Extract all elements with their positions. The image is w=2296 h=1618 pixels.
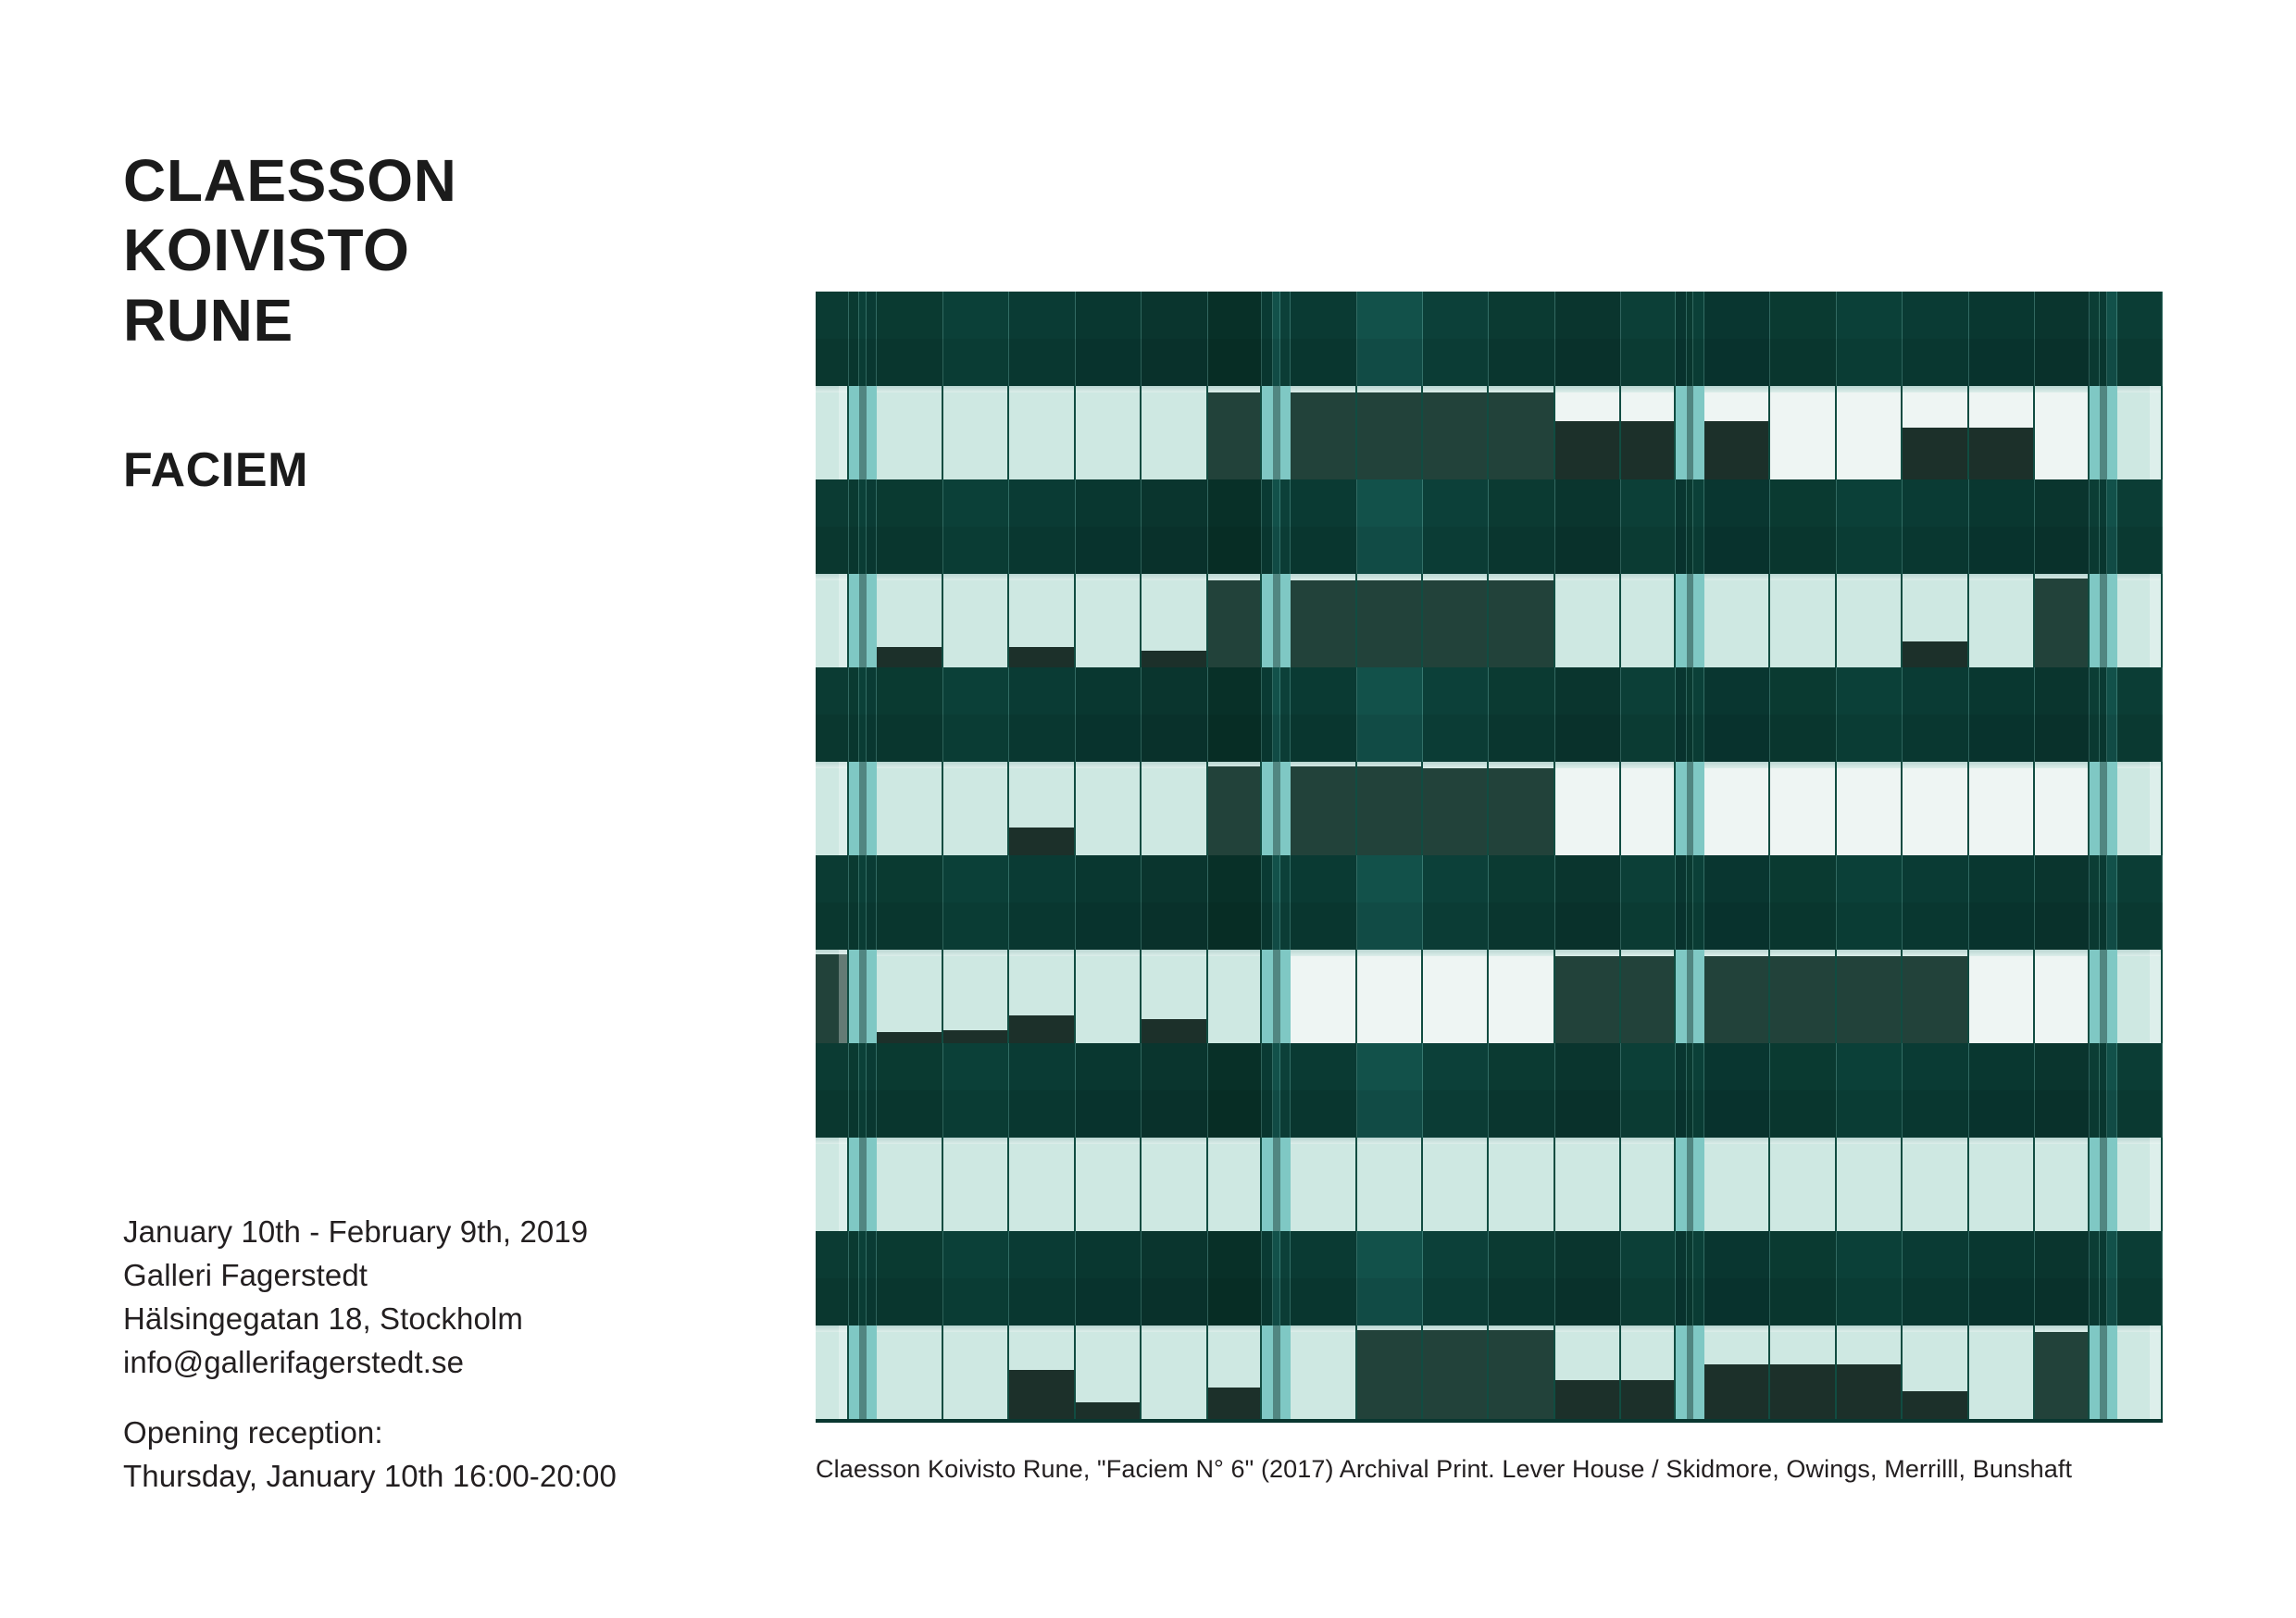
window-sky-strip <box>1142 1138 1205 1144</box>
facade-spandrel-cell <box>859 1278 867 1326</box>
window-sky-strip <box>2035 762 2088 768</box>
window-blind <box>877 1032 941 1043</box>
window-blind <box>1208 598 1261 667</box>
facade-window-cell <box>1423 950 1489 1043</box>
facade-spandrel-cell <box>1837 527 1903 574</box>
facade-spandrel-cell <box>2117 715 2163 762</box>
facade-spandrel-cell <box>2117 339 2163 386</box>
window-sky-strip <box>1009 386 1073 392</box>
facade-mullion-pillar <box>867 574 877 667</box>
facade-spandrel-cell <box>1009 1043 1075 1090</box>
facade-window-cell <box>1837 386 1903 479</box>
facade-spandrel-cell <box>1837 479 1903 527</box>
facade-window-cell <box>1489 950 1554 1043</box>
facade-spandrel-cell <box>867 855 877 902</box>
facade-window-cell <box>1969 1138 2035 1231</box>
facade-spandrel-cell <box>2107 292 2117 339</box>
facade-spandrel-band <box>816 1043 2163 1090</box>
facade-spandrel-cell <box>867 1090 877 1138</box>
facade-spandrel-cell <box>1142 667 1207 715</box>
facade-spandrel-cell <box>1009 715 1075 762</box>
facade-spandrel-cell <box>1903 527 1968 574</box>
facade-spandrel-cell <box>867 667 877 715</box>
facade-spandrel-cell <box>1687 1043 1694 1090</box>
facade-mullion-pillar <box>1273 1138 1280 1231</box>
facade-window-cell <box>1555 950 1621 1043</box>
facade-spandrel-cell <box>1837 855 1903 902</box>
facade-mullion-pillar <box>1262 1138 1272 1231</box>
facade-mullion-pillar <box>1273 1326 1280 1419</box>
facade-spandrel-cell <box>2100 1278 2107 1326</box>
facade-spandrel-cell <box>816 667 849 715</box>
facade-spandrel-cell <box>1770 339 1836 386</box>
facade-spandrel-cell <box>1676 527 1686 574</box>
facade-spandrel-band <box>816 479 2163 527</box>
window-blind <box>1208 397 1261 479</box>
facade-spandrel-cell <box>1423 527 1489 574</box>
facade-mullion-pillar <box>2107 1138 2117 1231</box>
facade-spandrel-cell <box>1555 667 1621 715</box>
facade-window-cell <box>943 950 1009 1043</box>
facade-spandrel-cell <box>1969 1278 2035 1326</box>
facade-spandrel-cell <box>1273 1090 1280 1138</box>
facade-spandrel-cell <box>1676 339 1686 386</box>
facade-spandrel-cell <box>1687 339 1694 386</box>
facade-mullion-pillar <box>859 1138 867 1231</box>
facade-mullion-pillar <box>1262 762 1272 855</box>
window-blind <box>1704 1364 1768 1419</box>
facade-spandrel-cell <box>1009 479 1075 527</box>
artwork-caption: Claesson Koivisto Rune, "Faciem N° 6" (2… <box>816 1455 2072 1484</box>
facade-spandrel-cell <box>859 1090 867 1138</box>
facade-window-cell <box>1142 1138 1207 1231</box>
facade-spandrel-cell <box>1357 1090 1423 1138</box>
window-sky-strip <box>1704 950 1768 956</box>
facade-window-cell <box>2035 1326 2090 1419</box>
facade-spandrel-cell <box>2035 1090 2090 1138</box>
facade-spandrel-cell <box>1280 715 1291 762</box>
window-blind <box>877 647 941 667</box>
facade-spandrel-cell <box>1676 855 1686 902</box>
window-blind <box>1903 428 1966 479</box>
window-glare <box>2150 1138 2161 1231</box>
facade-window-band <box>816 386 2163 479</box>
facade-spandrel-cell <box>2090 339 2100 386</box>
window-sky-strip <box>1555 762 1619 768</box>
window-sky-strip <box>1076 574 1140 580</box>
window-sky-strip <box>1903 386 1966 392</box>
facade-mullion-pillar <box>2100 1326 2107 1419</box>
window-blind <box>1621 421 1674 479</box>
window-blind <box>1423 1330 1487 1419</box>
facade-spandrel-cell <box>816 1231 849 1278</box>
facade-spandrel-cell <box>1423 667 1489 715</box>
facade-window-band <box>816 950 2163 1043</box>
window-sky-strip <box>1621 762 1674 768</box>
facade-window-cell <box>1837 950 1903 1043</box>
facade-spandrel-cell <box>943 715 1009 762</box>
facade-spandrel-cell <box>816 339 849 386</box>
window-sky-strip <box>1704 1138 1768 1144</box>
window-sky-strip <box>1969 762 2033 768</box>
facade-spandrel-cell <box>1208 855 1263 902</box>
facade-window-cell <box>1076 1326 1142 1419</box>
facade-spandrel-cell <box>2117 1043 2163 1090</box>
facade-spandrel-cell <box>1291 292 1356 339</box>
facade-window-cell <box>1704 762 1770 855</box>
facade-window-cell <box>2117 574 2163 667</box>
facade-spandrel-cell <box>2035 902 2090 950</box>
facade-window-cell <box>1009 386 1075 479</box>
facade-mullion-pillar <box>1280 386 1291 479</box>
facade-spandrel-cell <box>867 339 877 386</box>
facade-spandrel-cell <box>2035 1278 2090 1326</box>
facade-spandrel-cell <box>867 715 877 762</box>
facade-spandrel-cell <box>943 292 1009 339</box>
facade-spandrel-cell <box>1076 715 1142 762</box>
window-blind <box>1009 647 1073 667</box>
facade-spandrel-cell <box>1291 1043 1356 1090</box>
facade-spandrel-cell <box>1076 527 1142 574</box>
window-glare <box>2150 950 2161 1043</box>
facade-window-cell <box>1555 574 1621 667</box>
facade-spandrel-cell <box>1280 339 1291 386</box>
facade-spandrel-cell <box>1621 479 1676 527</box>
facade-window-cell <box>2035 574 2090 667</box>
facade-spandrel-cell <box>1423 1278 1489 1326</box>
facade-spandrel-band <box>816 527 2163 574</box>
window-sky-strip <box>1142 1326 1205 1332</box>
facade-spandrel-cell <box>1903 1090 1968 1138</box>
window-sky-strip <box>1621 1138 1674 1144</box>
facade-spandrel-cell <box>1676 667 1686 715</box>
facade-window-cell <box>1770 1138 1836 1231</box>
window-blind <box>1489 634 1553 667</box>
facade-spandrel-cell <box>877 1278 942 1326</box>
facade-mullion-pillar <box>2090 386 2100 479</box>
window-sky-strip <box>1208 950 1261 956</box>
facade-window-cell <box>1489 574 1554 667</box>
facade-window-cell <box>816 574 849 667</box>
facade-mullion-pillar <box>1262 386 1272 479</box>
facade-mullion-pillar <box>859 574 867 667</box>
exhibition-info: January 10th - February 9th, 2019 Galler… <box>123 1211 588 1384</box>
facade-spandrel-cell <box>1969 1043 2035 1090</box>
facade-spandrel-cell <box>1076 902 1142 950</box>
facade-window-cell <box>877 574 942 667</box>
window-glare <box>2150 574 2161 667</box>
facade-window-cell <box>1770 574 1836 667</box>
facade-spandrel-cell <box>1621 527 1676 574</box>
window-sky-strip <box>1009 1326 1073 1332</box>
facade-spandrel-band <box>816 715 2163 762</box>
window-blind <box>1903 641 1966 667</box>
facade-window-cell <box>1357 1326 1423 1419</box>
window-blind <box>1770 966 1834 1043</box>
facade-window-cell <box>1489 1138 1554 1231</box>
facade-spandrel-cell <box>1687 479 1694 527</box>
facade-spandrel-cell <box>1208 1043 1263 1090</box>
facade-spandrel-cell <box>1262 1090 1272 1138</box>
facade-spandrel-cell <box>2100 855 2107 902</box>
window-sky-strip <box>943 1326 1007 1332</box>
facade-window-cell <box>1357 762 1423 855</box>
facade-spandrel-cell <box>1687 902 1694 950</box>
facade-spandrel-cell <box>943 479 1009 527</box>
facade-spandrel-cell <box>2107 1043 2117 1090</box>
facade-spandrel-cell <box>1076 292 1142 339</box>
facade-mullion-pillar <box>1676 1138 1686 1231</box>
facade-spandrel-cell <box>877 1231 942 1278</box>
window-sky-strip <box>1357 574 1421 580</box>
facade-spandrel-cell <box>1621 1278 1676 1326</box>
facade-mullion-pillar <box>1687 1138 1694 1231</box>
facade-mullion-pillar <box>2107 386 2117 479</box>
window-sky-strip <box>1903 1138 1966 1144</box>
facade-spandrel-cell <box>1142 902 1207 950</box>
facade-mullion-pillar <box>1676 950 1686 1043</box>
facade-spandrel-cell <box>2100 667 2107 715</box>
facade-spandrel-cell <box>1291 339 1356 386</box>
facade-spandrel-cell <box>1693 902 1703 950</box>
facade-mullion-pillar <box>2107 762 2117 855</box>
facade-spandrel-cell <box>1621 667 1676 715</box>
facade-mullion-pillar <box>1693 1138 1703 1231</box>
window-sky-strip <box>1208 574 1261 580</box>
facade-spandrel-cell <box>1903 855 1968 902</box>
facade-spandrel-cell <box>1208 1231 1263 1278</box>
facade-spandrel-cell <box>1262 1231 1272 1278</box>
facade-window-cell <box>1555 1326 1621 1419</box>
facade-spandrel-cell <box>1357 1231 1423 1278</box>
facade-spandrel-cell <box>877 339 942 386</box>
facade-window-cell <box>1357 386 1423 479</box>
facade-spandrel-cell <box>1693 339 1703 386</box>
facade-spandrel-cell <box>1423 715 1489 762</box>
exhibition-title: FACIEM <box>123 442 308 498</box>
facade-spandrel-cell <box>1621 855 1676 902</box>
facade-spandrel-cell <box>1555 339 1621 386</box>
facade-spandrel-cell <box>1076 1231 1142 1278</box>
facade-spandrel-cell <box>1142 1231 1207 1278</box>
facade-window-cell <box>2035 762 2090 855</box>
window-blind <box>1291 766 1354 855</box>
facade-spandrel-cell <box>1704 292 1770 339</box>
facade-spandrel-cell <box>849 902 859 950</box>
facade-spandrel-cell <box>849 527 859 574</box>
reception-info: Opening reception: Thursday, January 10t… <box>123 1412 617 1499</box>
facade-spandrel-cell <box>1693 715 1703 762</box>
facade-spandrel-band <box>816 1278 2163 1326</box>
facade-spandrel-cell <box>2100 479 2107 527</box>
facade-window-cell <box>1621 1138 1676 1231</box>
facade-spandrel-cell <box>1357 715 1423 762</box>
window-sky-strip <box>1770 1138 1834 1144</box>
facade-spandrel-cell <box>943 902 1009 950</box>
window-sky-strip <box>1009 574 1073 580</box>
facade-spandrel-cell <box>1280 1231 1291 1278</box>
facade-window-cell <box>1142 1326 1207 1419</box>
facade-spandrel-cell <box>1280 479 1291 527</box>
window-sky-strip <box>877 574 941 580</box>
facade-spandrel-cell <box>1903 339 1968 386</box>
facade-window-cell <box>1142 574 1207 667</box>
facade-spandrel-cell <box>1489 292 1554 339</box>
facade-spandrel-cell <box>1142 855 1207 902</box>
facade-spandrel-cell <box>1676 1043 1686 1090</box>
facade-spandrel-cell <box>1676 292 1686 339</box>
facade-spandrel-cell <box>867 1043 877 1090</box>
facade-window-band <box>816 1138 2163 1231</box>
facade-spandrel-cell <box>2117 527 2163 574</box>
facade-window-cell <box>816 950 849 1043</box>
window-blind <box>2035 1382 2088 1419</box>
facade-window-cell <box>1903 762 1968 855</box>
facade-window-cell <box>1208 574 1263 667</box>
facade-spandrel-cell <box>1704 715 1770 762</box>
window-blind <box>1837 966 1901 1043</box>
facade-spandrel-cell <box>1770 479 1836 527</box>
facade-window-cell <box>877 950 942 1043</box>
facade-spandrel-cell <box>849 292 859 339</box>
facade-spandrel-cell <box>2090 715 2100 762</box>
window-sky-strip <box>1621 1326 1674 1332</box>
facade-window-cell <box>1555 762 1621 855</box>
facade-spandrel-cell <box>1489 527 1554 574</box>
facade-spandrel-cell <box>1770 667 1836 715</box>
facade-mullion-pillar <box>1693 1326 1703 1419</box>
facade-spandrel-cell <box>2090 1278 2100 1326</box>
facade-mullion-pillar <box>849 386 859 479</box>
facade-mullion-pillar <box>1693 386 1703 479</box>
window-sky-strip <box>1142 762 1205 768</box>
facade-spandrel-cell <box>2117 479 2163 527</box>
window-blind <box>1357 397 1421 479</box>
facade-mullion-pillar <box>2100 386 2107 479</box>
window-sky-strip <box>1423 762 1487 768</box>
window-sky-strip <box>1291 386 1354 392</box>
window-sky-strip <box>1142 574 1205 580</box>
facade-spandrel-cell <box>2035 339 2090 386</box>
facade-mullion-pillar <box>1273 386 1280 479</box>
facade-spandrel-cell <box>1555 855 1621 902</box>
facade-spandrel-cell <box>1142 1090 1207 1138</box>
window-glare <box>839 574 847 667</box>
facade-spandrel-cell <box>1969 667 2035 715</box>
facade-window-cell <box>1969 574 2035 667</box>
facade-spandrel-cell <box>1693 667 1703 715</box>
facade-window-cell <box>1142 386 1207 479</box>
facade-spandrel-cell <box>1076 339 1142 386</box>
facade-spandrel-cell <box>859 902 867 950</box>
window-sky-strip <box>1489 950 1553 956</box>
facade-spandrel-cell <box>816 1278 849 1326</box>
facade-mullion-pillar <box>867 762 877 855</box>
window-glare <box>839 950 847 1043</box>
facade-mullion-pillar <box>859 950 867 1043</box>
window-blind <box>1555 421 1619 479</box>
window-sky-strip <box>943 386 1007 392</box>
window-sky-strip <box>2035 950 2088 956</box>
facade-spandrel-cell <box>859 1231 867 1278</box>
facade-spandrel-cell <box>2090 479 2100 527</box>
facade-spandrel-cell <box>859 292 867 339</box>
facade-spandrel-cell <box>1687 527 1694 574</box>
facade-spandrel-cell <box>2090 667 2100 715</box>
facade-spandrel-cell <box>1142 1278 1207 1326</box>
facade-window-cell <box>1704 574 1770 667</box>
facade-window-cell <box>1704 386 1770 479</box>
facade-window-cell <box>1009 1138 1075 1231</box>
facade-window-cell <box>816 386 849 479</box>
facade-spandrel-cell <box>1142 715 1207 762</box>
facade-window-cell <box>1208 1326 1263 1419</box>
window-sky-strip <box>1357 950 1421 956</box>
facade-spandrel-cell <box>2035 527 2090 574</box>
window-blind <box>1142 651 1205 667</box>
facade-spandrel-cell <box>1903 902 1968 950</box>
window-blind <box>1142 1019 1205 1043</box>
facade-spandrel-cell <box>1262 292 1272 339</box>
facade-spandrel-cell <box>1555 715 1621 762</box>
facade-mullion-pillar <box>1262 574 1272 667</box>
facade-spandrel-cell <box>816 479 849 527</box>
facade-spandrel-cell <box>859 479 867 527</box>
window-sky-strip <box>1357 1138 1421 1144</box>
artwork-figure <box>816 292 2163 1423</box>
facade-spandrel-cell <box>1704 339 1770 386</box>
facade-spandrel-cell <box>1142 1043 1207 1090</box>
window-sky-strip <box>1423 950 1487 956</box>
facade-spandrel-cell <box>1208 667 1263 715</box>
facade-window-cell <box>1770 950 1836 1043</box>
facade-window-cell <box>1208 1138 1263 1231</box>
facade-spandrel-cell <box>1489 902 1554 950</box>
facade-spandrel-cell <box>1489 1090 1554 1138</box>
facade-spandrel-cell <box>2107 902 2117 950</box>
facade-window-cell <box>2117 386 2163 479</box>
facade-spandrel-cell <box>1621 1043 1676 1090</box>
facade-mullion-pillar <box>1676 386 1686 479</box>
facade-mullion-pillar <box>1262 950 1272 1043</box>
facade-spandrel-cell <box>943 1090 1009 1138</box>
facade-spandrel-cell <box>1489 339 1554 386</box>
facade-spandrel-cell <box>2117 1278 2163 1326</box>
facade-spandrel-cell <box>849 667 859 715</box>
window-blind <box>1555 1380 1619 1419</box>
window-sky-strip <box>1142 950 1205 956</box>
facade-mullion-pillar <box>1687 950 1694 1043</box>
facade-mullion-pillar <box>1687 1326 1694 1419</box>
facade-spandrel-cell <box>1693 292 1703 339</box>
facade-spandrel-cell <box>1770 292 1836 339</box>
facade-spandrel-cell <box>1489 715 1554 762</box>
facade-spandrel-cell <box>1208 339 1263 386</box>
facade-spandrel-cell <box>1142 527 1207 574</box>
window-blind <box>1009 828 1073 855</box>
facade-spandrel-cell <box>859 855 867 902</box>
facade-window-band <box>816 574 2163 667</box>
facade-spandrel-cell <box>849 1278 859 1326</box>
window-sky-strip <box>1489 574 1553 580</box>
facade-spandrel-cell <box>816 527 849 574</box>
window-sky-strip <box>1076 386 1140 392</box>
facade-spandrel-cell <box>1280 667 1291 715</box>
facade-spandrel-cell <box>1291 1231 1356 1278</box>
facade-spandrel-cell <box>849 715 859 762</box>
facade-spandrel-cell <box>1837 1278 1903 1326</box>
facade-spandrel-cell <box>1621 715 1676 762</box>
